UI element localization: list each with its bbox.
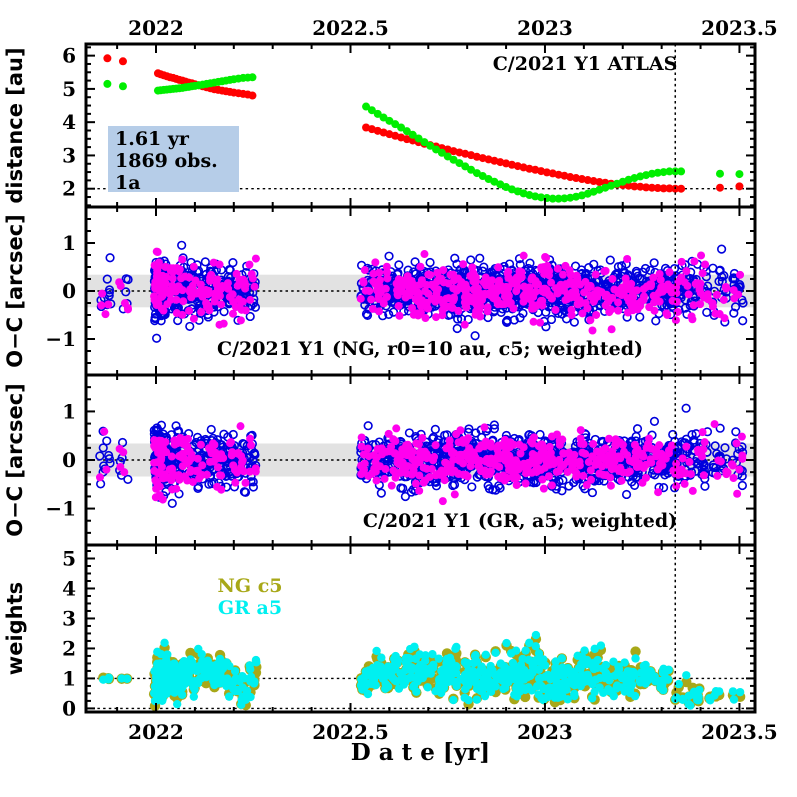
data-point <box>738 455 746 463</box>
data-point <box>119 448 127 456</box>
data-point <box>586 292 594 300</box>
data-point <box>211 296 219 304</box>
data-point <box>733 439 741 447</box>
data-point <box>541 285 549 293</box>
data-point <box>665 268 673 276</box>
data-point <box>517 450 525 458</box>
data-point <box>246 296 254 304</box>
data-point <box>183 442 191 450</box>
data-point <box>730 286 738 294</box>
data-point <box>357 295 365 303</box>
data-point <box>475 444 483 452</box>
data-point <box>735 466 743 474</box>
data-point <box>534 301 542 309</box>
data-point <box>242 479 250 487</box>
data-point <box>685 458 693 466</box>
data-point <box>96 473 104 481</box>
data-point <box>451 490 459 498</box>
data-point <box>395 278 403 286</box>
data-point <box>448 304 456 312</box>
data-point <box>577 440 585 448</box>
data-point <box>124 305 132 313</box>
data-point <box>614 437 622 445</box>
data-point <box>601 456 609 464</box>
data-point <box>213 483 221 491</box>
data-point <box>159 496 167 504</box>
data-point <box>197 441 205 449</box>
data-point <box>229 310 237 318</box>
data-point <box>642 474 650 482</box>
data-point <box>470 451 478 459</box>
data-point <box>677 167 685 175</box>
data-point <box>461 321 469 329</box>
data-point <box>190 263 198 271</box>
data-point <box>484 303 492 311</box>
data-point <box>699 428 707 436</box>
data-point <box>662 455 670 463</box>
data-point <box>697 251 705 259</box>
data-point <box>615 467 623 475</box>
data-point <box>693 279 701 287</box>
data-point <box>540 270 548 278</box>
data-point <box>733 490 741 498</box>
data-point <box>735 182 743 190</box>
data-point <box>219 454 227 462</box>
data-point <box>545 472 553 480</box>
data-point <box>582 299 590 307</box>
data-point <box>359 277 367 285</box>
data-point <box>383 263 391 271</box>
data-point <box>410 311 418 319</box>
data-point <box>519 298 527 306</box>
data-point <box>690 257 698 265</box>
data-point <box>682 469 690 477</box>
data-point <box>115 278 123 286</box>
data-point <box>713 291 721 299</box>
data-point <box>699 269 707 277</box>
data-point <box>679 454 687 462</box>
data-point <box>496 455 504 463</box>
data-point <box>184 435 192 443</box>
data-point <box>179 297 187 305</box>
data-point <box>237 316 245 324</box>
data-point <box>226 439 234 447</box>
data-point <box>191 276 199 284</box>
data-point <box>626 299 634 307</box>
data-point <box>448 449 456 457</box>
data-point <box>647 455 655 463</box>
data-point <box>103 80 111 88</box>
data-point <box>717 457 725 465</box>
data-point <box>360 450 368 458</box>
data-point <box>551 306 559 314</box>
data-point <box>589 440 597 448</box>
data-point <box>396 469 404 477</box>
data-point <box>194 289 202 297</box>
data-point <box>716 184 724 192</box>
data-point <box>689 487 697 495</box>
data-point <box>156 442 164 450</box>
data-point <box>251 283 259 291</box>
data-point <box>371 458 379 466</box>
data-point <box>252 255 260 263</box>
data-point <box>157 454 165 462</box>
data-point <box>167 267 175 275</box>
data-point <box>450 295 458 303</box>
data-point <box>672 460 680 468</box>
data-point <box>697 289 705 297</box>
data-point <box>615 286 623 294</box>
data-point <box>472 273 480 281</box>
data-point <box>172 288 180 296</box>
data-point <box>608 461 616 469</box>
data-point <box>730 294 738 302</box>
data-point <box>208 443 216 451</box>
data-point <box>385 430 393 438</box>
data-point <box>361 266 369 274</box>
data-point <box>462 302 470 310</box>
data-point <box>652 295 660 303</box>
data-point <box>432 471 440 479</box>
data-point <box>192 467 200 475</box>
data-point <box>682 443 690 451</box>
data-point <box>462 281 470 289</box>
data-point <box>159 474 167 482</box>
data-point <box>97 301 105 309</box>
data-point <box>398 287 406 295</box>
data-point <box>436 296 444 304</box>
data-point <box>722 470 730 478</box>
data-point <box>520 252 528 260</box>
data-point <box>548 481 556 489</box>
data-point <box>217 285 225 293</box>
data-point <box>677 185 685 193</box>
data-point <box>735 170 743 178</box>
data-point <box>155 259 163 267</box>
data-point <box>475 298 483 306</box>
data-point <box>565 449 573 457</box>
data-point <box>358 433 366 441</box>
data-point <box>168 465 176 473</box>
data-point <box>172 485 180 493</box>
data-point <box>672 316 680 324</box>
data-point <box>248 92 256 100</box>
data-point <box>462 288 470 296</box>
data-point <box>608 294 616 302</box>
data-point <box>631 441 639 449</box>
data-point <box>357 470 365 478</box>
data-point <box>472 311 480 319</box>
data-point <box>428 295 436 303</box>
panel-weights <box>86 545 755 712</box>
data-point <box>722 283 730 291</box>
data-point <box>395 312 403 320</box>
data-point <box>245 261 253 269</box>
data-point <box>608 449 616 457</box>
data-point <box>234 282 242 290</box>
data-point <box>377 288 385 296</box>
data-point <box>207 271 215 279</box>
data-point <box>607 482 615 490</box>
data-point <box>178 256 186 264</box>
data-point <box>190 315 198 323</box>
data-point <box>248 73 256 81</box>
data-point <box>728 460 736 468</box>
multi-panel-plot: 20222022.520232023.520222022.520232023.5… <box>0 0 797 797</box>
data-point <box>700 471 708 479</box>
data-point <box>154 299 162 307</box>
data-point <box>103 54 111 62</box>
data-point <box>538 453 546 461</box>
data-point <box>654 488 662 496</box>
data-point <box>485 455 493 463</box>
data-point <box>152 485 160 493</box>
data-point <box>677 274 685 282</box>
data-point <box>499 471 507 479</box>
data-point <box>459 260 467 268</box>
data-point <box>583 481 591 489</box>
data-point <box>518 268 526 276</box>
data-point <box>589 327 597 335</box>
data-point <box>547 279 555 287</box>
data-point <box>488 276 496 284</box>
data-point <box>463 449 471 457</box>
data-point <box>709 303 717 311</box>
data-point <box>522 480 530 488</box>
data-point <box>643 444 651 452</box>
data-point <box>203 471 211 479</box>
data-point <box>530 459 538 467</box>
data-point <box>429 456 437 464</box>
data-point <box>578 449 586 457</box>
data-point <box>418 434 426 442</box>
data-point <box>358 443 366 451</box>
data-point <box>557 281 565 289</box>
data-point <box>238 306 246 314</box>
data-point <box>480 423 488 431</box>
data-point <box>645 435 653 443</box>
data-point <box>416 263 424 271</box>
data-point <box>682 267 690 275</box>
data-point <box>738 433 746 441</box>
data-point <box>502 440 510 448</box>
data-point <box>663 311 671 319</box>
data-point <box>505 452 513 460</box>
data-point <box>235 295 243 303</box>
data-point <box>404 274 412 282</box>
data-point <box>98 290 106 298</box>
data-point <box>556 441 564 449</box>
data-point <box>623 255 631 263</box>
data-point <box>119 57 127 65</box>
data-point <box>592 311 600 319</box>
data-point <box>395 454 403 462</box>
data-point <box>194 455 202 463</box>
data-point <box>371 280 379 288</box>
data-point <box>418 302 426 310</box>
data-point <box>449 284 457 292</box>
data-point <box>381 475 389 483</box>
data-point <box>217 300 225 308</box>
data-point <box>571 458 579 466</box>
data-point <box>480 278 488 286</box>
data-point <box>172 296 180 304</box>
data-point <box>506 300 514 308</box>
data-point <box>440 469 448 477</box>
data-point <box>159 291 167 299</box>
data-point <box>374 445 382 453</box>
data-point <box>246 468 254 476</box>
data-point <box>214 463 222 471</box>
data-point <box>600 267 608 275</box>
data-point <box>175 471 183 479</box>
data-point <box>367 295 375 303</box>
data-point <box>239 276 247 284</box>
data-point <box>672 482 680 490</box>
data-point <box>482 438 490 446</box>
data-point <box>566 266 574 274</box>
data-point <box>459 471 467 479</box>
data-point <box>229 290 237 298</box>
data-point <box>587 283 595 291</box>
data-point <box>579 472 587 480</box>
data-point <box>446 271 454 279</box>
data-point <box>514 277 522 285</box>
data-point <box>657 276 665 284</box>
data-point <box>102 466 110 474</box>
data-point <box>215 321 223 329</box>
data-point <box>716 170 724 178</box>
data-point <box>104 300 112 308</box>
data-point <box>477 467 485 475</box>
data-point <box>548 295 556 303</box>
data-point <box>701 438 709 446</box>
data-point <box>646 281 654 289</box>
data-point <box>487 291 495 299</box>
data-point <box>438 311 446 319</box>
data-point <box>150 467 158 475</box>
data-point <box>696 300 704 308</box>
data-point <box>713 472 721 480</box>
data-point <box>614 307 622 315</box>
data-point <box>592 271 600 279</box>
data-point <box>388 482 396 490</box>
data-point <box>606 474 614 482</box>
data-point <box>721 314 729 322</box>
data-point <box>205 306 213 314</box>
data-point <box>567 306 575 314</box>
data-point <box>433 277 441 285</box>
data-point <box>540 485 548 493</box>
data-point <box>651 307 659 315</box>
data-point <box>426 271 434 279</box>
data-point <box>361 460 369 468</box>
data-point <box>372 477 380 485</box>
data-point <box>730 474 738 482</box>
data-point <box>530 290 538 298</box>
data-point <box>202 286 210 294</box>
data-point <box>237 422 245 430</box>
data-point <box>688 315 696 323</box>
data-point <box>701 260 709 268</box>
data-point <box>468 263 476 271</box>
data-point <box>456 426 464 434</box>
data-point <box>496 300 504 308</box>
data-point <box>183 459 191 467</box>
data-point <box>382 448 390 456</box>
data-point <box>495 463 503 471</box>
data-point <box>406 291 414 299</box>
data-point <box>532 280 540 288</box>
data-point <box>571 287 579 295</box>
data-point <box>711 420 719 428</box>
data-point <box>432 441 440 449</box>
data-point <box>577 426 585 434</box>
data-point <box>504 461 512 469</box>
data-point <box>152 493 160 501</box>
data-point <box>618 477 626 485</box>
data-point <box>383 274 391 282</box>
data-point <box>375 295 383 303</box>
data-point <box>375 269 383 277</box>
data-point <box>608 325 616 333</box>
data-point <box>228 448 236 456</box>
data-point <box>540 263 548 271</box>
data-point <box>554 265 562 273</box>
data-point <box>472 290 480 298</box>
data-point <box>681 480 689 488</box>
data-point <box>415 487 423 495</box>
data-point <box>217 472 225 480</box>
data-point <box>639 453 647 461</box>
data-point <box>530 433 538 441</box>
data-point <box>622 275 630 283</box>
data-point <box>210 259 218 267</box>
data-point <box>365 287 373 295</box>
data-point <box>395 302 403 310</box>
data-point <box>415 458 423 466</box>
data-point <box>593 448 601 456</box>
data-point <box>531 452 539 460</box>
data-point <box>574 300 582 308</box>
data-point <box>431 284 439 292</box>
data-point <box>546 455 554 463</box>
data-point <box>652 445 660 453</box>
data-point <box>548 432 556 440</box>
data-point <box>608 275 616 283</box>
data-point <box>231 479 239 487</box>
data-point <box>119 82 127 90</box>
data-point <box>153 248 161 256</box>
data-point <box>624 469 632 477</box>
data-point <box>685 290 693 298</box>
data-point <box>439 266 447 274</box>
data-point <box>593 457 601 465</box>
data-point <box>237 464 245 472</box>
data-point <box>515 441 523 449</box>
data-point <box>185 307 193 315</box>
data-point <box>668 289 676 297</box>
figure-root: 20222022.520232023.520222022.520232023.5… <box>0 0 797 797</box>
data-point <box>530 318 538 326</box>
data-point <box>178 311 186 319</box>
data-point <box>637 297 645 305</box>
data-point <box>412 480 420 488</box>
data-point <box>403 449 411 457</box>
data-point <box>168 453 176 461</box>
data-point <box>510 468 518 476</box>
data-point <box>523 467 531 475</box>
